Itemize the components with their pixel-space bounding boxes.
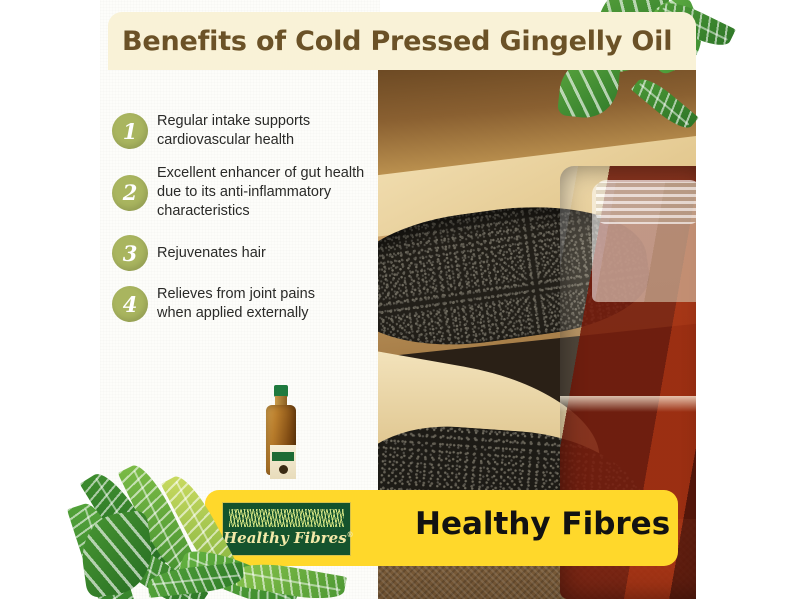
list-item: 3 Rejuvenates hair (112, 235, 384, 271)
infographic-canvas: Benefits of Cold Pressed Gingelly Oil 1 … (0, 0, 800, 599)
bottom-left-leaf-cluster (88, 440, 328, 599)
photo-bottle-threads (596, 180, 696, 224)
benefit-text: Relieves from joint pains when applied e… (157, 285, 315, 323)
page-title: Benefits of Cold Pressed Gingelly Oil (108, 26, 672, 57)
brand-name: Healthy Fibres (415, 506, 665, 542)
header-band: Benefits of Cold Pressed Gingelly Oil (108, 12, 696, 70)
monstera-leaf-icon (77, 510, 157, 599)
logo-trademark: ® (347, 530, 354, 539)
benefit-number-badge: 1 (112, 113, 148, 149)
benefit-text: Excellent enhancer of gut health due to … (157, 164, 384, 221)
benefit-number-badge: 2 (112, 175, 148, 211)
benefit-text-line-1: Relieves from joint pains (157, 285, 315, 304)
photo-oil-surface-line (560, 396, 696, 412)
list-item: 1 Regular intake supports cardiovascular… (112, 112, 384, 150)
list-item: 2 Excellent enhancer of gut health due t… (112, 164, 384, 221)
benefit-number-badge: 4 (112, 286, 148, 322)
benefits-list: 1 Regular intake supports cardiovascular… (112, 112, 384, 337)
benefit-number-badge: 3 (112, 235, 148, 271)
benefit-text-line-2: when applied externally (157, 305, 309, 321)
list-item: 4 Relieves from joint pains when applied… (112, 285, 384, 323)
benefit-text: Rejuvenates hair (157, 244, 266, 263)
benefit-text: Regular intake supports cardiovascular h… (157, 112, 384, 150)
